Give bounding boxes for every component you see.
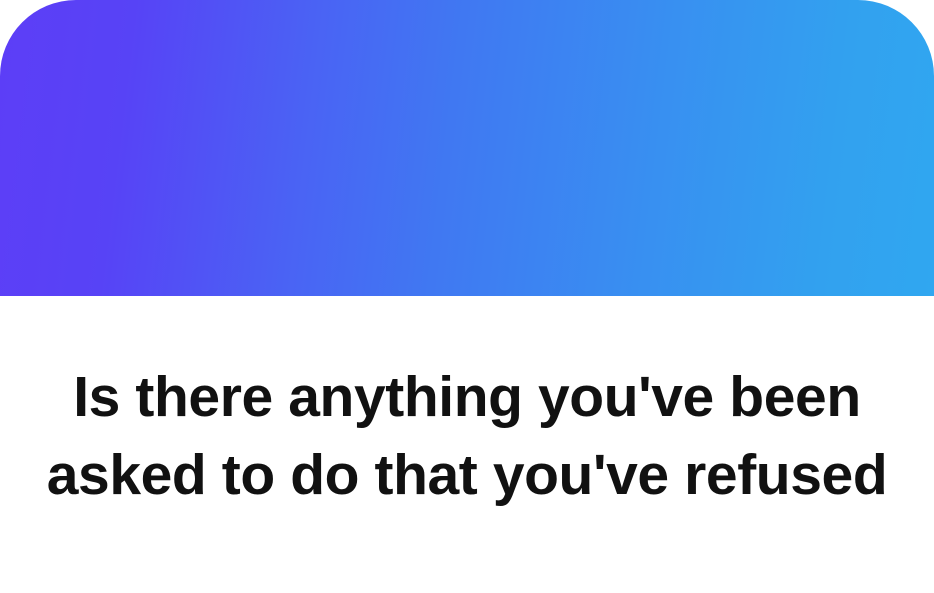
caption-line-1: Is there anything you've been <box>30 358 904 436</box>
gradient-banner <box>0 0 934 296</box>
caption-container: Is there anything you've beenasked to do… <box>0 296 934 593</box>
quote-card: Is there anything you've beenasked to do… <box>0 0 934 593</box>
caption-line-2: asked to do that you've refused <box>30 436 904 514</box>
caption-text: Is there anything you've beenasked to do… <box>30 358 904 514</box>
